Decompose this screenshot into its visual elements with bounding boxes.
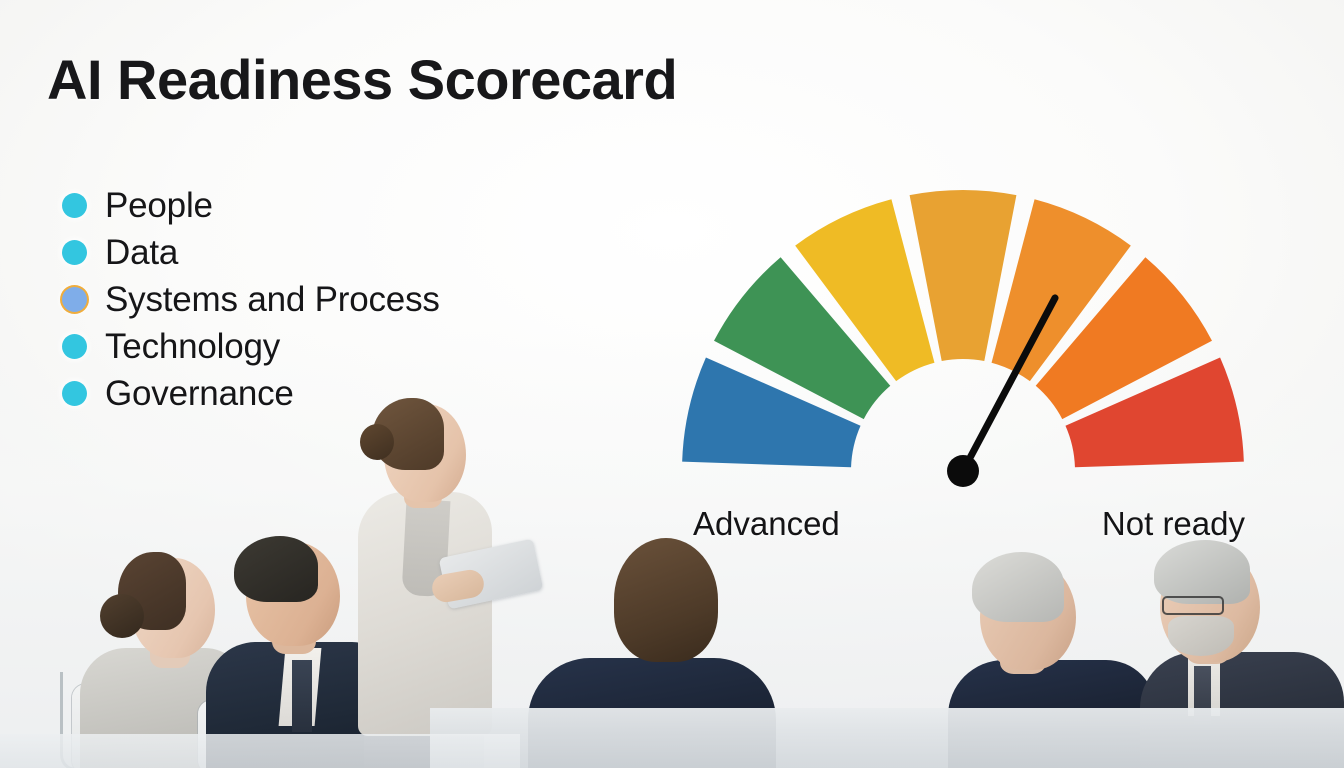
- beard: [1168, 616, 1234, 656]
- list-item[interactable]: People: [62, 182, 532, 229]
- gauge-svg: [660, 150, 1270, 510]
- page-title: AI Readiness Scorecard: [47, 47, 677, 112]
- list-item[interactable]: Systems and Process: [62, 276, 532, 323]
- hair-bun: [360, 424, 394, 460]
- eyeglasses-icon: [1162, 596, 1224, 615]
- list-item[interactable]: Data: [62, 229, 532, 276]
- bullet-dot-icon: [62, 193, 87, 218]
- bullet-dot-icon: [62, 334, 87, 359]
- gauge-label-left: Advanced: [693, 505, 840, 543]
- list-item-label: People: [105, 186, 213, 226]
- list-item-label: Data: [105, 233, 178, 273]
- readiness-dimension-list: People Data Systems and Process Technolo…: [62, 182, 532, 417]
- hair-bun: [100, 594, 144, 638]
- gauge-segment-group: [682, 190, 1244, 467]
- readiness-gauge-chart: Advanced Not ready: [660, 150, 1270, 570]
- list-item[interactable]: Technology: [62, 323, 532, 370]
- necktie: [292, 660, 312, 732]
- conference-table: [430, 708, 1344, 768]
- gauge-label-right: Not ready: [1102, 505, 1245, 543]
- bullet-dot-icon: [62, 240, 87, 265]
- list-item-label: Governance: [105, 374, 294, 414]
- bullet-dot-icon: [62, 381, 87, 406]
- bullet-dot-icon: [62, 287, 87, 312]
- list-item-label: Systems and Process: [105, 280, 440, 320]
- conference-table-left: [0, 734, 520, 768]
- list-item[interactable]: Governance: [62, 370, 532, 417]
- slide-canvas: AI Readiness Scorecard People Data Syste…: [0, 0, 1344, 768]
- list-item-label: Technology: [105, 327, 280, 367]
- needle-hub: [947, 455, 979, 487]
- hair: [234, 536, 318, 602]
